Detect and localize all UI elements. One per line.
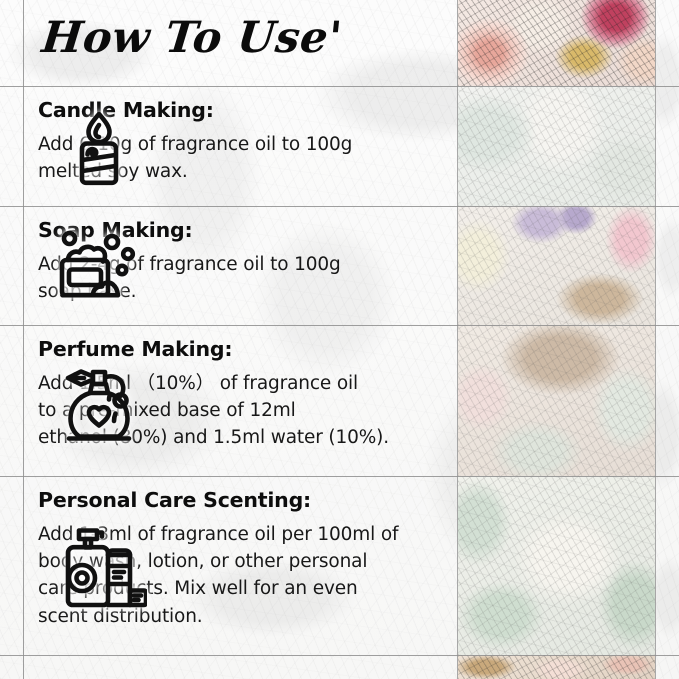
divider-below-soap	[0, 325, 679, 326]
bottom-sliver-lines	[458, 655, 655, 679]
perfume-backdrop-lines	[458, 325, 655, 476]
art-strip-right-rule	[655, 0, 656, 679]
perfume-bottle-icon	[51, 363, 147, 449]
personal-care-products-icon	[51, 522, 147, 614]
perfume-floral-backdrop	[458, 325, 655, 476]
candle-icon	[62, 108, 136, 188]
bottom-photo-sliver	[458, 655, 655, 679]
divider-below-personal-care	[0, 655, 679, 656]
divider-below-title	[0, 86, 679, 87]
soap-bar-icon	[51, 229, 147, 305]
candle-floral-backdrop	[458, 86, 655, 206]
personal-care-floral-backdrop	[458, 476, 655, 655]
page-title: How To Use'	[39, 11, 345, 67]
soap-icon-slot	[0, 226, 197, 308]
personal-care-backdrop-lines	[458, 476, 655, 655]
divider-below-candle	[0, 206, 679, 207]
how-to-use-poster: How To Use' Candle Making: Add 6-10g of …	[0, 0, 679, 679]
rose-moth-photo	[458, 0, 655, 86]
divider-below-perfume	[0, 476, 679, 477]
candle-icon-slot	[0, 106, 197, 190]
art-strip-right-margin	[655, 0, 679, 679]
soap-floral-backdrop	[458, 206, 655, 325]
art-strip	[458, 0, 655, 679]
personal-care-icon-slot	[0, 520, 197, 616]
rose-moth-photo-lines	[458, 0, 655, 86]
section-heading-personal-care-scenting: Personal Care Scenting:	[38, 488, 438, 512]
perfume-icon-slot	[0, 360, 197, 452]
candle-backdrop-lines	[458, 86, 655, 206]
section-heading-perfume-making: Perfume Making:	[38, 337, 438, 361]
art-strip-left-rule	[457, 0, 458, 679]
soap-backdrop-lines	[458, 206, 655, 325]
